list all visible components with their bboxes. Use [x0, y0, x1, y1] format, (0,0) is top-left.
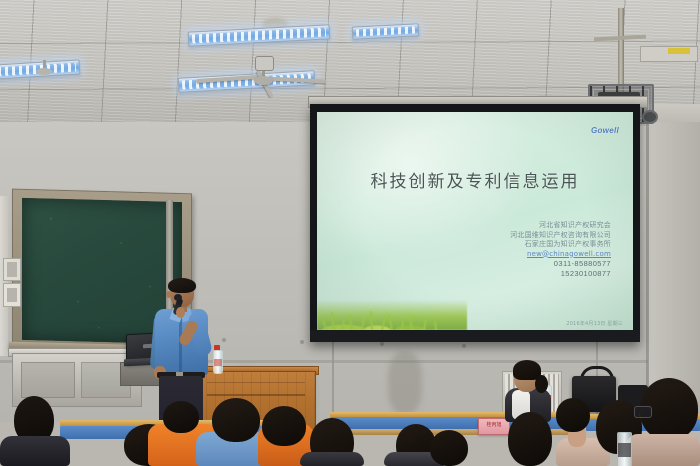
wall-fixing	[222, 338, 226, 342]
projector-lens-icon	[642, 110, 658, 124]
screen-bottom-bar	[310, 330, 640, 342]
lecture-hall-photo: Gowell 科技创新及专利信息运用 河北省知识产权研究会 河北国维知识产权咨询…	[0, 0, 700, 466]
presenter-hair	[168, 278, 196, 293]
audience-member-ponytail	[535, 375, 548, 393]
eyeglasses-icon	[634, 406, 652, 418]
audience-member-torso	[626, 434, 700, 466]
ceiling-fan-hub	[254, 76, 273, 85]
wall-notice	[3, 258, 21, 281]
screen-vignette	[317, 112, 633, 330]
projected-slide: Gowell 科技创新及专利信息运用 河北省知识产权研究会 河北国维知识产权咨询…	[317, 112, 633, 330]
projector-mount-pole	[618, 8, 624, 96]
audience-member-torso	[300, 452, 364, 466]
presenter-ear	[166, 291, 171, 298]
audience-member-torso	[0, 436, 70, 466]
right-wall-column	[648, 122, 700, 422]
bottle-label	[618, 443, 631, 457]
audience-member-head	[430, 430, 468, 466]
audience-member-head	[508, 412, 552, 466]
wall-fixing	[462, 344, 466, 348]
wall-vent-label	[668, 48, 690, 54]
wall-fixing	[300, 340, 304, 344]
podium-seam	[207, 382, 305, 383]
right-wall-column-edge	[646, 122, 649, 422]
bottle-label	[214, 359, 222, 366]
shirt-placket	[179, 316, 182, 374]
wall-fixing	[380, 342, 384, 346]
ceiling-fan-motor	[255, 56, 274, 71]
audience-member-head	[163, 401, 199, 433]
water-bottle	[213, 350, 223, 374]
wall-notice	[3, 283, 21, 307]
name-placard-text: 桂丙旭	[481, 421, 507, 432]
audience-member-head	[262, 406, 306, 446]
desk-panel	[21, 362, 75, 398]
wall-smudge	[388, 352, 422, 414]
presenter-hand	[176, 307, 185, 318]
audience-member-head	[556, 398, 590, 432]
water-bottle	[617, 432, 632, 466]
projection-screen-frame: Gowell 科技创新及专利信息运用 河北省知识产权研究会 河北国维知识产权咨询…	[310, 104, 640, 342]
ceiling-fan-hub	[36, 68, 52, 75]
microphone-head-icon	[174, 294, 182, 301]
podium-seam	[207, 394, 305, 396]
audience-member-head	[212, 398, 260, 442]
